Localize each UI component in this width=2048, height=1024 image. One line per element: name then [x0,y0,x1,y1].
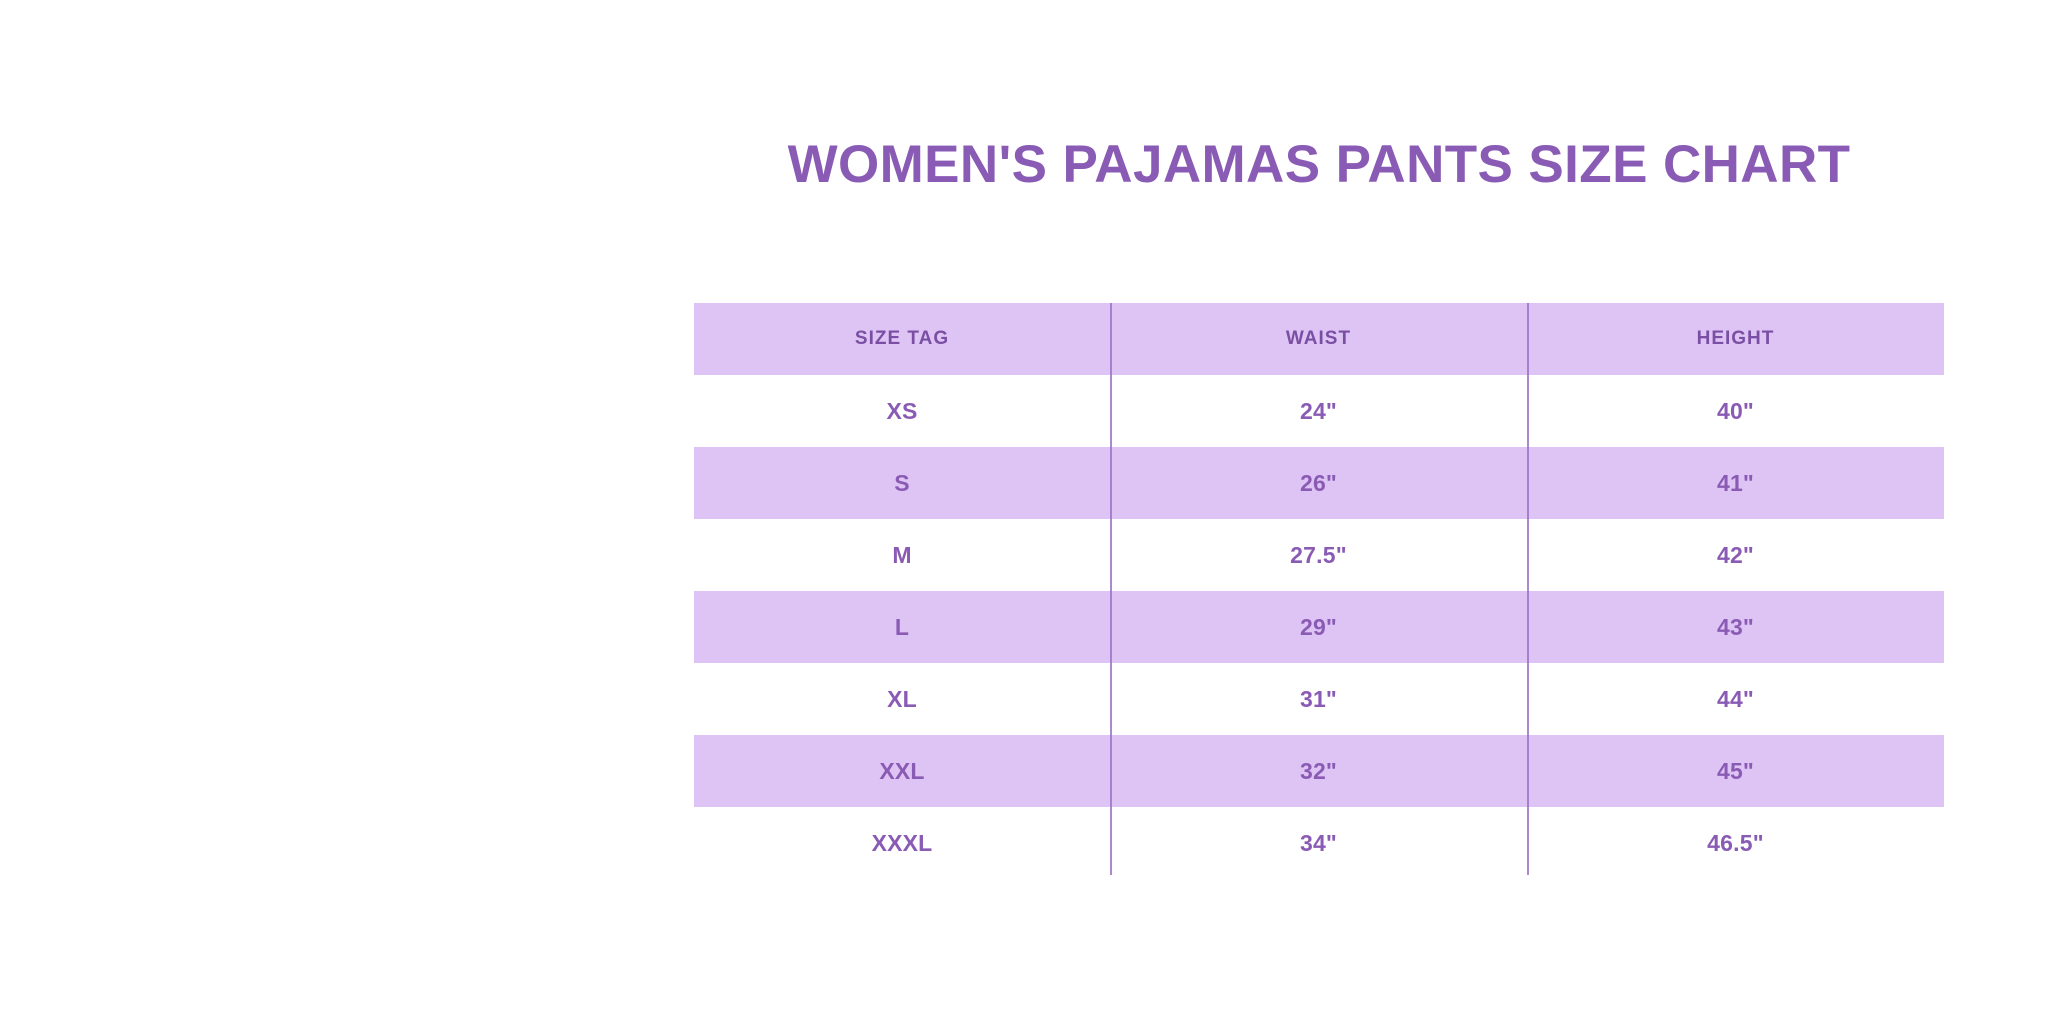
column-divider-left [1110,303,1112,875]
size-chart-table: SIZE TAG WAIST HEIGHT XS 24" 40" S 26" 4… [694,303,1944,879]
table-row: M 27.5" 42" [694,519,1944,591]
column-header-height: HEIGHT [1527,303,1944,375]
cell-height: 40" [1527,375,1944,447]
cell-height: 43" [1527,591,1944,663]
table-row: S 26" 41" [694,447,1944,519]
cell-size-tag: L [694,591,1110,663]
table-row: XXL 32" 45" [694,735,1944,807]
cell-height: 42" [1527,519,1944,591]
column-divider-right [1527,303,1529,875]
column-header-waist: WAIST [1110,303,1527,375]
table-row: L 29" 43" [694,591,1944,663]
cell-waist: 31" [1110,663,1527,735]
table-header-row: SIZE TAG WAIST HEIGHT [694,303,1944,375]
cell-waist: 32" [1110,735,1527,807]
cell-height: 41" [1527,447,1944,519]
column-header-size-tag: SIZE TAG [694,303,1110,375]
cell-waist: 26" [1110,447,1527,519]
cell-height: 44" [1527,663,1944,735]
cell-waist: 27.5" [1110,519,1527,591]
cell-size-tag: XL [694,663,1110,735]
cell-height: 45" [1527,735,1944,807]
size-chart-page: WOMEN'S PAJAMAS PANTS SIZE CHART SIZE TA… [0,0,2048,1024]
cell-size-tag: XXL [694,735,1110,807]
cell-waist: 24" [1110,375,1527,447]
table-header: SIZE TAG WAIST HEIGHT [694,303,1944,375]
cell-size-tag: XXXL [694,807,1110,879]
cell-waist: 34" [1110,807,1527,879]
table-row: XS 24" 40" [694,375,1944,447]
cell-waist: 29" [1110,591,1527,663]
table-row: XL 31" 44" [694,663,1944,735]
cell-height: 46.5" [1527,807,1944,879]
cell-size-tag: M [694,519,1110,591]
page-title: WOMEN'S PAJAMAS PANTS SIZE CHART [694,134,1944,196]
cell-size-tag: S [694,447,1110,519]
table-body: XS 24" 40" S 26" 41" M 27.5" 42" L 29" 4… [694,375,1944,879]
cell-size-tag: XS [694,375,1110,447]
table-row: XXXL 34" 46.5" [694,807,1944,879]
